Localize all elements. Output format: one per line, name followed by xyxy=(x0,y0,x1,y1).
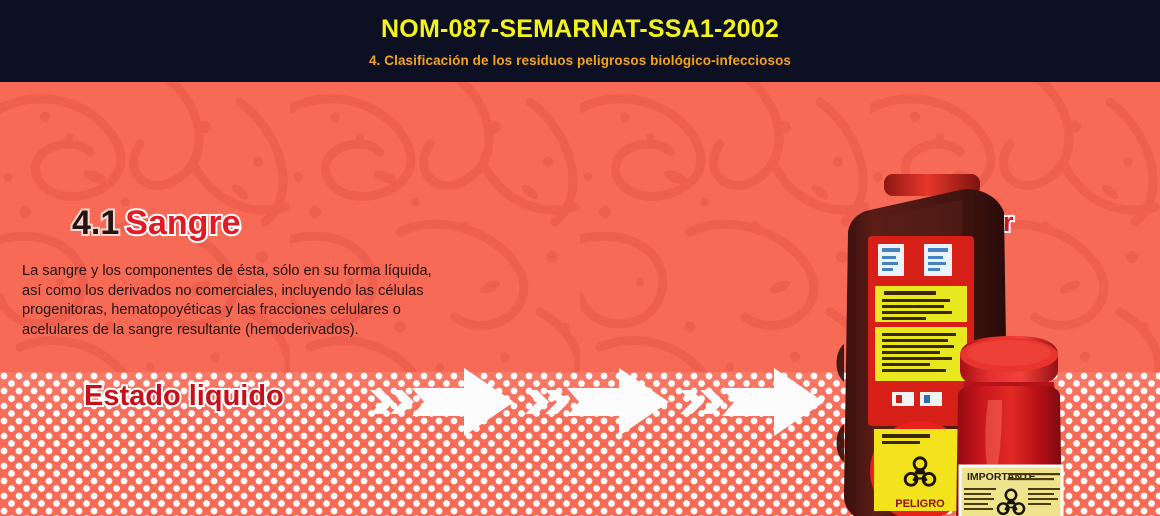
right-arrow-icon xyxy=(525,368,669,436)
biohazard-label-caption: PELIGRO xyxy=(895,498,945,510)
jar-label-title: IMPORTANTE xyxy=(967,471,1036,483)
page-title: NOM-087-SEMARNAT-SSA1-2002 xyxy=(381,16,779,42)
section-title: Sangre xyxy=(125,204,240,242)
state-label: Estado liquido xyxy=(84,380,284,413)
page-subtitle: 4. Clasificación de los residuos peligro… xyxy=(369,53,791,68)
slide-root: NOM-087-SEMARNAT-SSA1-2002 4. Clasificac… xyxy=(0,0,1160,516)
slide-body: 4.1Sangre La sangre y los componentes de… xyxy=(0,82,1160,516)
section-heading: 4.1Sangre xyxy=(72,204,241,243)
flow-arrows xyxy=(368,366,828,438)
section-body-text: La sangre y los componentes de ésta, sól… xyxy=(22,262,442,340)
section-number: 4.1 xyxy=(72,204,119,242)
slide-header: NOM-087-SEMARNAT-SSA1-2002 4. Clasificac… xyxy=(0,0,1160,82)
right-arrow-icon xyxy=(680,368,824,436)
container-illustration: PELIGRO IMPORTANTE xyxy=(812,174,1160,516)
biohazard-jar: IMPORTANTE xyxy=(956,336,1062,516)
right-arrow-icon xyxy=(370,368,514,436)
